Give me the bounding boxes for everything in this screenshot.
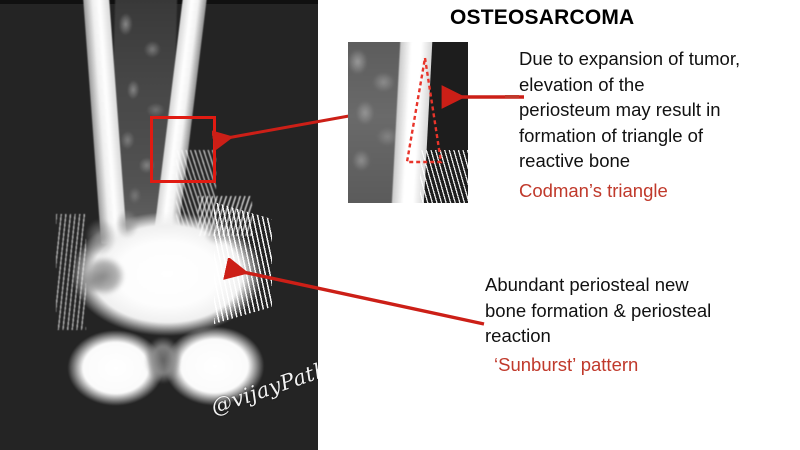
codman-line-1: Due to expansion of tumor, <box>519 46 797 72</box>
sunburst-emphasis-label: ‘Sunburst’ pattern <box>494 352 785 378</box>
sunburst-line-3: reaction <box>485 323 785 349</box>
xray-image-panel: @vijayPatho <box>0 0 318 450</box>
codman-line-2: elevation of the <box>519 72 797 98</box>
magnified-inset-image <box>348 42 468 203</box>
codman-line-3: periosteum may result in <box>519 97 797 123</box>
sunburst-text-block: Abundant periosteal new bone formation &… <box>485 272 785 377</box>
codman-callout-arrow <box>436 82 528 114</box>
roi-rectangle-codman <box>150 116 216 183</box>
sunburst-line-2: bone formation & periosteal <box>485 298 785 324</box>
codman-line-5: reactive bone <box>519 148 797 174</box>
slide-canvas: @vijayPatho <box>0 0 800 450</box>
roi-leader-line <box>212 108 362 154</box>
intercondylar-notch <box>140 332 186 388</box>
sunburst-callout-arrow <box>222 258 490 338</box>
codman-text-block: Due to expansion of tumor, elevation of … <box>519 46 797 203</box>
metaphyseal-shadow <box>76 250 132 302</box>
slide-title: OSTEOSARCOMA <box>450 6 634 30</box>
codman-triangle-outline <box>404 56 450 174</box>
sunburst-line-1: Abundant periosteal new <box>485 272 785 298</box>
codman-leader-stub <box>505 95 519 98</box>
codman-line-4: formation of triangle of <box>519 123 797 149</box>
codman-emphasis-label: Codman’s triangle <box>519 178 797 204</box>
